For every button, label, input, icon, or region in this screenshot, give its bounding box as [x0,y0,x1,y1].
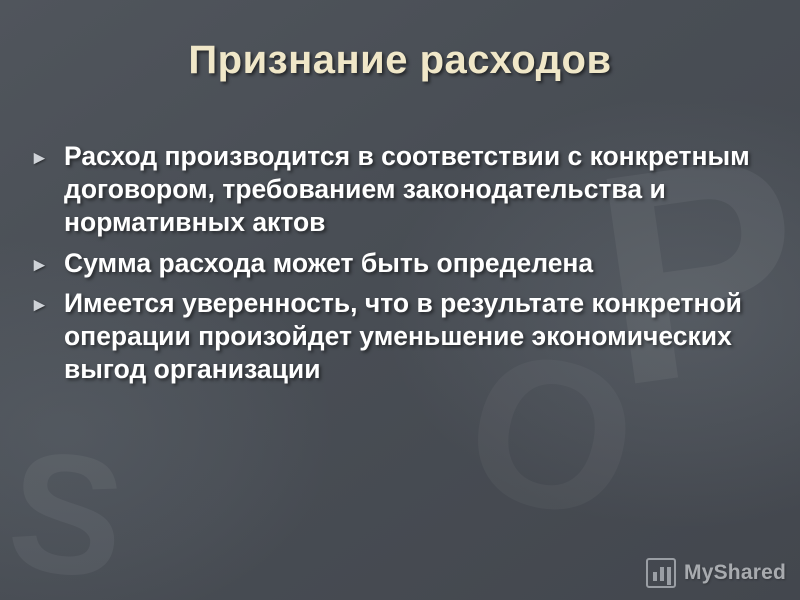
background-decoration-mark-2: S [1,425,132,600]
presentation-slide: P S O Признание расходов ► Расход произв… [0,0,800,600]
watermark-label: MyShared [684,561,786,585]
slide-title: Признание расходов [0,38,800,83]
chart-document-icon [646,558,676,588]
bullet-arrow-icon: ► [30,140,64,168]
bullet-list: ► Расход производится в соответствии с к… [30,140,760,394]
bullet-arrow-icon: ► [30,287,64,315]
myshared-watermark: MyShared [646,558,786,588]
list-item: ► Расход производится в соответствии с к… [30,140,760,239]
bullet-text: Сумма расхода может быть определена [64,247,760,280]
bullet-arrow-icon: ► [30,247,64,275]
list-item: ► Сумма расхода может быть определена [30,247,760,280]
bullet-text: Расход производится в соответствии с кон… [64,140,760,239]
bullet-text: Имеется уверенность, что в результате ко… [64,287,760,386]
list-item: ► Имеется уверенность, что в результате … [30,287,760,386]
